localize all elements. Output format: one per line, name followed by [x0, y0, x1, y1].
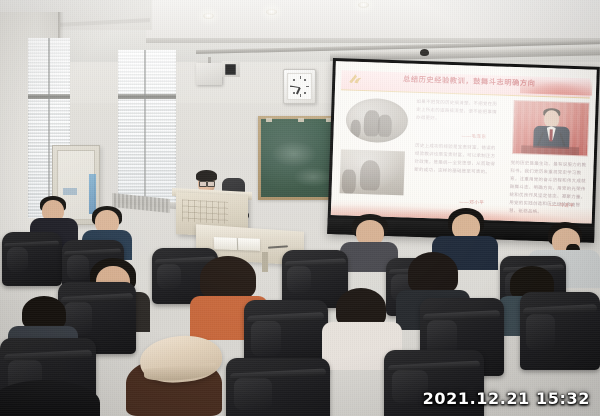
wall-clock: [283, 69, 316, 104]
downlight-icon: [203, 13, 214, 19]
attendee-hair: [408, 252, 458, 294]
window-right: [118, 50, 176, 202]
open-book: [214, 237, 260, 251]
ceiling-drop-panel: [146, 0, 600, 40]
slide-attribution-middle-1: ——毛泽东: [461, 133, 486, 140]
seat-highlight: [526, 314, 555, 350]
photo-figure: [342, 169, 357, 193]
camera-lens-icon: [225, 64, 236, 75]
window-daylight: [118, 50, 176, 202]
auditorium-seat[interactable]: [520, 292, 600, 370]
clock-tick: [300, 94, 301, 97]
attendee-hair: [200, 256, 256, 300]
clock-tick: [306, 86, 309, 87]
projector-sensor-icon: [420, 49, 429, 56]
window-rail: [118, 94, 176, 99]
portrait-tie: [549, 129, 552, 141]
clock-minute-hand: [290, 85, 300, 88]
eyeglasses-icon: [199, 181, 207, 187]
clock-tick: [293, 79, 295, 81]
photo-figure: [350, 120, 361, 138]
chalk-smudge: [293, 167, 333, 187]
portrait-head: [544, 110, 560, 127]
podium-panel: [182, 199, 228, 223]
eyeglasses-icon: [207, 181, 215, 187]
attendee-hair: [22, 296, 66, 330]
downlight-icon: [358, 2, 369, 8]
slide-title-decoration: [520, 75, 593, 95]
presenter-hair: [196, 170, 217, 181]
clock-face: [287, 73, 312, 100]
seat-highlight: [157, 264, 181, 290]
seat-highlight: [287, 266, 311, 293]
auditorium-seat[interactable]: [2, 232, 62, 286]
clock-tick: [304, 79, 306, 81]
party-emblem-icon: [347, 72, 363, 88]
clock-tick: [293, 92, 295, 94]
clock-tick: [300, 76, 301, 79]
chalkboard-clip: [266, 118, 272, 122]
cabinet-strip: [89, 174, 96, 214]
chalkboard-clip: [298, 118, 304, 122]
book-seam: [237, 238, 238, 250]
seat-highlight: [234, 378, 271, 410]
leader-portrait-photo: [513, 101, 589, 155]
window-mullion: [144, 50, 146, 202]
seat-highlight: [67, 255, 89, 280]
photo-figure: [360, 160, 381, 191]
presentation-slide: 总结历史经验教训，鼓舞斗志明确方向 如果不把党的历史搞清楚，不把党在历史上所走的…: [331, 61, 597, 224]
camera-timestamp: 2021.12.21 15:32: [423, 389, 590, 408]
clock-tick: [304, 92, 306, 94]
lecture-hall-photo: 总结历史经验教训，鼓舞斗志明确方向 如果不把党的历史搞清楚，不把党在历史上所走的…: [0, 0, 600, 416]
camera-housing: [196, 63, 222, 85]
cabinet-label: [63, 188, 77, 195]
desk-leg: [262, 252, 268, 272]
photo-figure: [377, 115, 392, 137]
screen-surface: 总结历史经验教训，鼓舞斗志明确方向 如果不把党的历史搞清楚，不把党在历史上所走的…: [331, 61, 597, 224]
oval-historical-photo: [345, 97, 408, 143]
seat-highlight: [7, 247, 29, 272]
slide-text-middle-1: 如果不把党的历史搞清楚，不把党在历史上所走的道路搞清楚，便不能把事情办得更好。: [416, 98, 499, 125]
auditorium-seat[interactable]: [226, 358, 330, 416]
slide-text-middle-2: 历史上成功的经验是宝贵财富，错误的经验教训也是宝贵财富，可以承制正方针政策，是最…: [414, 142, 497, 177]
portrait-podium: [521, 145, 579, 155]
seat-highlight: [251, 321, 281, 356]
chalk-smudge: [271, 141, 317, 167]
rectangular-historical-photo: [340, 149, 405, 195]
window-mullion: [48, 38, 50, 218]
downlight-icon: [266, 9, 277, 15]
